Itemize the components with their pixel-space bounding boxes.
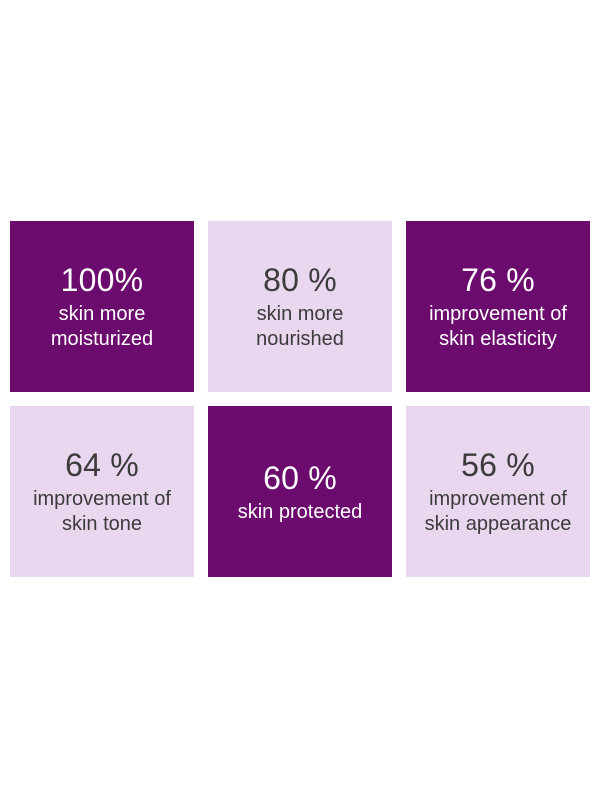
stat-tile-grid: 100% skin more moisturized 80 % skin mor… xyxy=(10,221,590,577)
stat-label-line1: improvement of xyxy=(33,488,171,510)
stat-label: skin protected xyxy=(238,500,363,525)
stat-label-line1: skin more xyxy=(59,303,146,325)
stat-value: 56 % xyxy=(461,446,535,484)
stat-tile-elasticity: 76 % improvement of skin elasticity xyxy=(406,221,590,392)
stat-tile-nourished: 80 % skin more nourished xyxy=(208,221,392,392)
stat-label: improvement of skin tone xyxy=(33,487,171,537)
stat-tiles-infographic: 100% skin more moisturized 80 % skin mor… xyxy=(0,0,600,800)
stat-label: improvement of skin elasticity xyxy=(429,302,567,352)
stat-value: 76 % xyxy=(461,261,535,299)
stat-label-line1: improvement of xyxy=(429,488,567,510)
stat-label-line2: nourished xyxy=(256,328,344,350)
stat-label-line1: improvement of xyxy=(429,303,567,325)
stat-label-line1: skin more xyxy=(257,303,344,325)
stat-value: 80 % xyxy=(263,261,337,299)
stat-label-line2: moisturized xyxy=(51,328,153,350)
stat-tile-skin-tone: 64 % improvement of skin tone xyxy=(10,406,194,577)
stat-label-line1: skin protected xyxy=(238,501,363,523)
stat-label-line2: skin appearance xyxy=(425,513,572,535)
stat-value: 100% xyxy=(61,261,144,299)
stat-label: skin more moisturized xyxy=(51,302,153,352)
stat-label-line2: skin elasticity xyxy=(439,328,557,350)
stat-value: 64 % xyxy=(65,446,139,484)
stat-value: 60 % xyxy=(263,459,337,497)
stat-tile-appearance: 56 % improvement of skin appearance xyxy=(406,406,590,577)
stat-tile-protected: 60 % skin protected xyxy=(208,406,392,577)
stat-tile-moisturized: 100% skin more moisturized xyxy=(10,221,194,392)
stat-label: improvement of skin appearance xyxy=(425,487,572,537)
stat-label-line2: skin tone xyxy=(62,513,142,535)
stat-label: skin more nourished xyxy=(256,302,344,352)
